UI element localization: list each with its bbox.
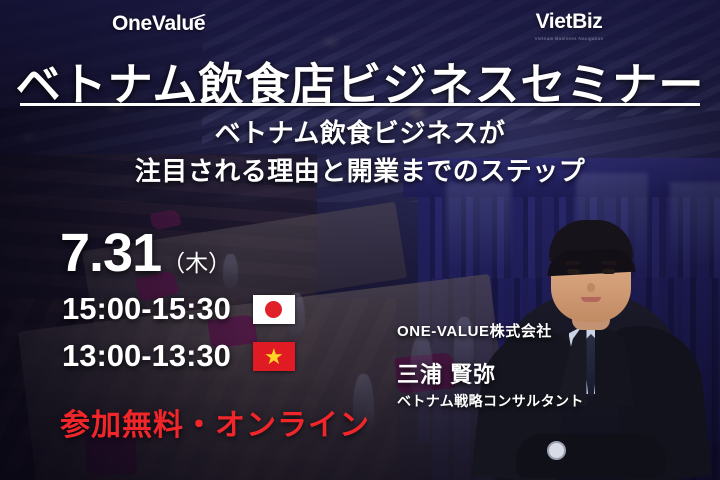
speaker-nose (587, 283, 595, 292)
vietbiz-logo-text: VietBiz (514, 10, 624, 34)
speaker-company: ONE‐VALUE株式会社 (397, 320, 552, 341)
seminar-poster: OneValue VietBiz Vietnam Business Naviga… (0, 0, 720, 480)
speaker-eye-right (602, 269, 615, 274)
onevalue-logo[interactable]: OneValue (112, 12, 205, 36)
free-online-badge: 参加無料・オンライン (60, 400, 370, 444)
speaker-mouth (581, 297, 601, 302)
subtitle-line-1: ベトナム飲食ビジネスが (0, 114, 720, 152)
session-row-japan: 15:00-15:30 (62, 291, 295, 327)
flag-japan-disc (265, 301, 282, 318)
session-row-vietnam: 13:00-13:30 ★ (62, 338, 295, 374)
speaker-name: 三浦 賢弥 (397, 357, 496, 389)
flag-vietnam-icon: ★ (253, 342, 295, 371)
speaker-eyebrow-left (564, 261, 580, 266)
session-time-japan: 15:00-15:30 (62, 291, 231, 327)
flag-japan-icon (253, 295, 295, 324)
subtitle-line-2: 注目される理由と開業までのステップ (0, 152, 720, 190)
subtitle: ベトナム飲食ビジネスが 注目される理由と開業までのステップ (0, 114, 720, 190)
speaker-eyebrow-right (600, 261, 616, 266)
title-divider (20, 103, 700, 106)
speaker-wristwatch (547, 441, 566, 460)
flag-vietnam-star: ★ (264, 342, 284, 371)
vietbiz-logo[interactable]: VietBiz Vietnam Business Navigation (514, 10, 624, 41)
session-time-vietnam: 13:00-13:30 (62, 338, 231, 374)
speaker-role: ベトナム戦略コンサルタント (397, 391, 584, 411)
onevalue-logo-text: OneValue (112, 12, 205, 35)
event-day-of-week: （木） (162, 250, 231, 276)
speaker-crossed-arms (516, 434, 666, 478)
event-date-number: 7.31 (60, 223, 161, 283)
speaker-eye-left (567, 269, 580, 274)
vietbiz-logo-tagline: Vietnam Business Navigation (514, 36, 624, 41)
event-date: 7.31（木） (60, 222, 231, 284)
